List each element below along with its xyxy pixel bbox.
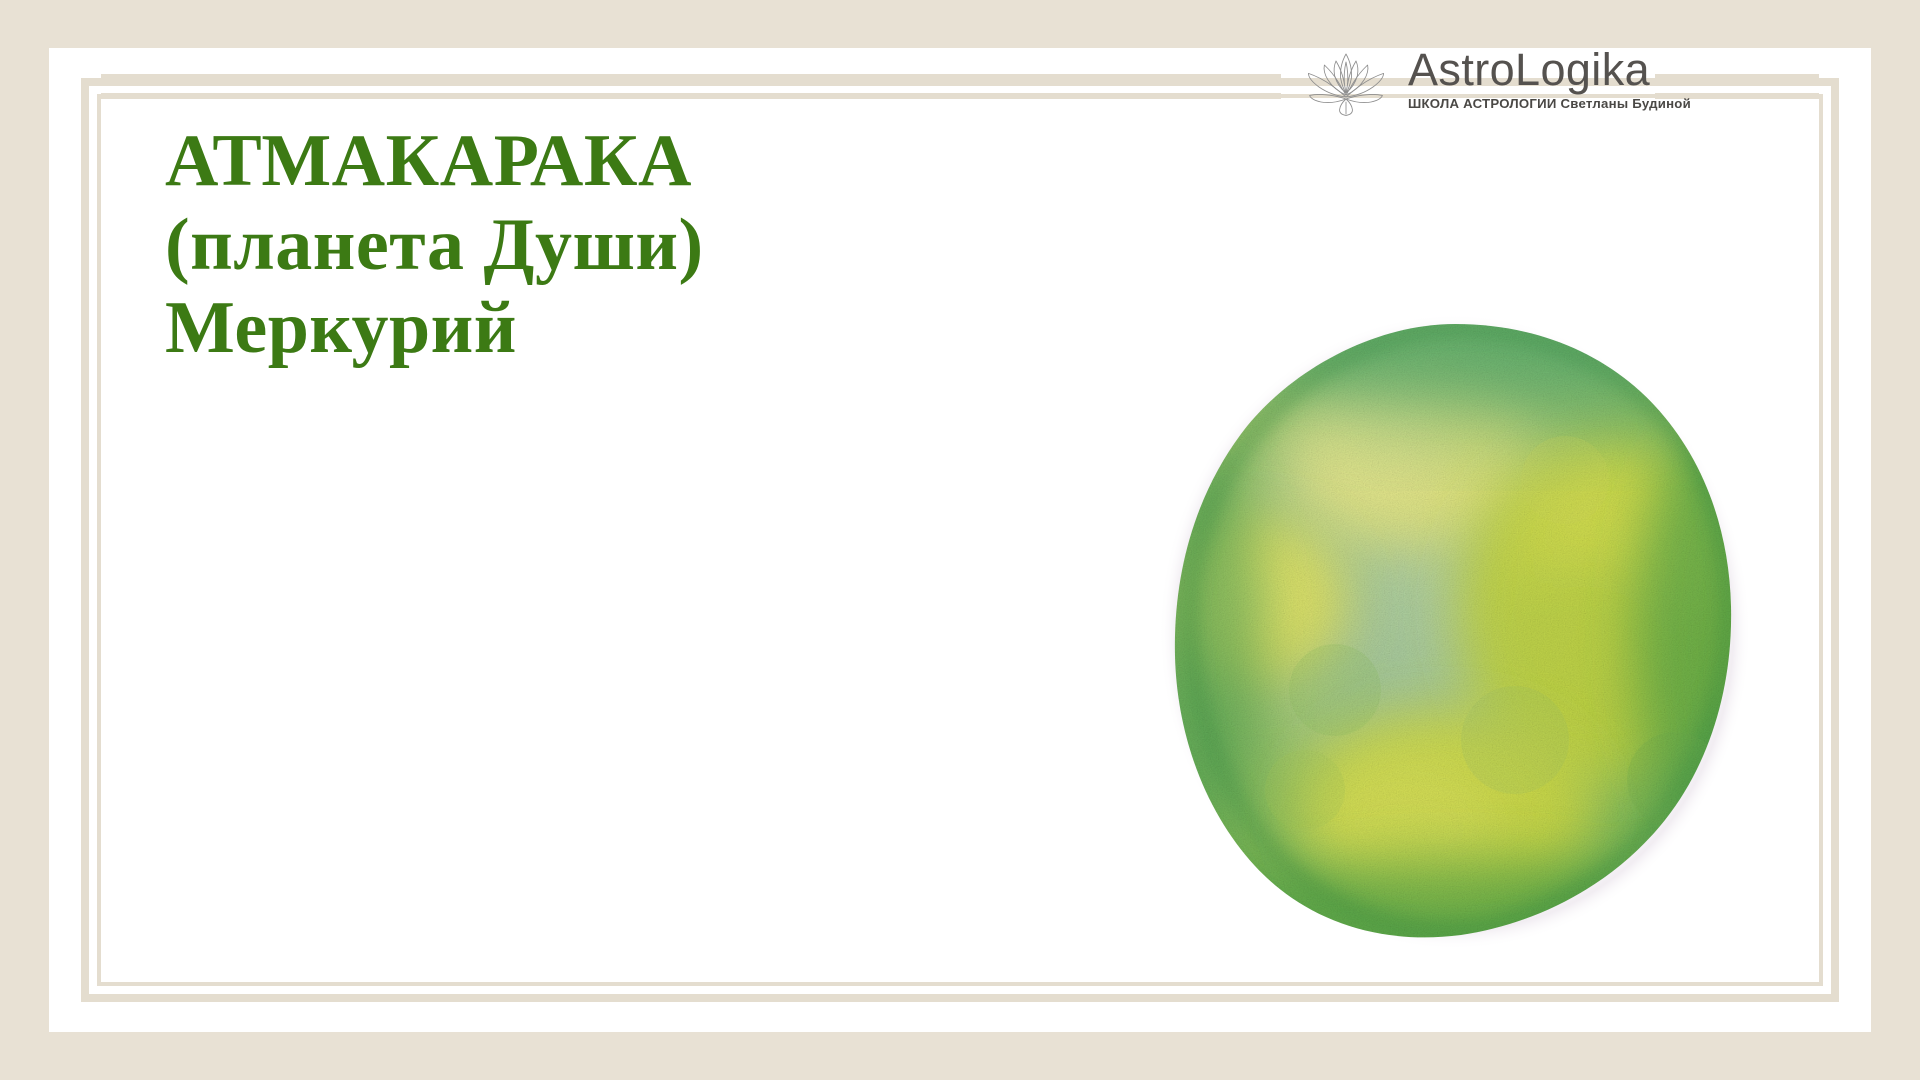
- slide: АТМАКАРАКА (планета Души) Меркурий: [0, 0, 1920, 1080]
- planet-sphere-graphic: [1155, 310, 1755, 955]
- brand-logo: AstroLogika ШКОЛА АСТРОЛОГИИ Светланы Бу…: [1294, 42, 1691, 116]
- page-title: АТМАКАРАКА (планета Души) Меркурий: [165, 120, 1065, 371]
- header-rule-left-upper: [101, 74, 1281, 83]
- title-line-3: Меркурий: [165, 287, 1065, 371]
- title-line-1: АТМАКАРАКА: [165, 120, 1065, 204]
- logo-subtitle: ШКОЛА АСТРОЛОГИИ Светланы Будиной: [1408, 97, 1691, 110]
- watercolor-planet-illustration: [1155, 310, 1755, 955]
- logo-text-block: AstroLogika ШКОЛА АСТРОЛОГИИ Светланы Бу…: [1408, 47, 1691, 110]
- lotus-flower-icon: [1294, 42, 1398, 116]
- planet-body: [1155, 310, 1755, 955]
- header-rule-left-lower: [101, 93, 1281, 99]
- logo-wordmark: AstroLogika: [1408, 47, 1691, 93]
- title-line-2: (планета Души): [165, 204, 1065, 288]
